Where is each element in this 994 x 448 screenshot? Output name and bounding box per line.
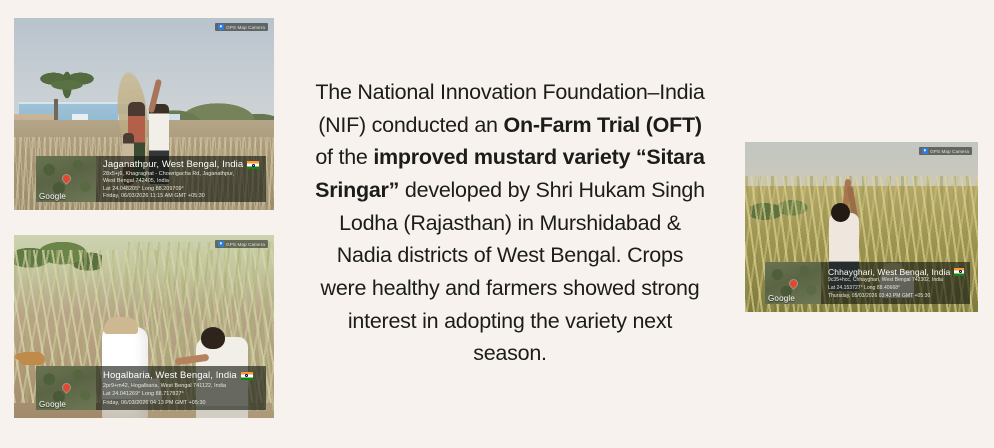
- photo-chhayghari: GPS Map Camera Google Chhayghari, West B…: [745, 142, 978, 312]
- body-paragraph: The National Innovation Foundation–India…: [312, 76, 708, 370]
- google-watermark: Google: [39, 192, 66, 201]
- map-marker-icon: [61, 383, 71, 393]
- location-title: Jaganathpur, West Bengal, India: [103, 160, 260, 170]
- location-name: Chhayghari, West Bengal, India: [828, 267, 950, 278]
- copy-segment-1: On-Farm Trial (OFT): [503, 113, 701, 137]
- gps-map-camera-badge: GPS Map Camera: [215, 240, 268, 248]
- timestamp-line: Thursday, 05/03/2026 03:43 PM GMT +05:30: [828, 293, 964, 301]
- map-thumbnail: Google: [36, 156, 96, 202]
- gps-badge-label: GPS Map Camera: [226, 242, 265, 247]
- gps-text-block: Hogalbaria, West Bengal, India 2pr9+m42,…: [96, 366, 266, 410]
- india-flag-icon: [247, 161, 259, 169]
- officer-head: [201, 327, 225, 349]
- slide-canvas: GPS Map Camera Google Jaganathpur, West …: [0, 0, 994, 448]
- copy-segment-4: developed by Shri Hukam Singh Lodha (Raj…: [321, 178, 705, 365]
- location-title: Chhayghari, West Bengal, India: [828, 267, 964, 278]
- photo-jaganathpur: GPS Map Camera Google Jaganathpur, West …: [14, 18, 274, 210]
- gps-text-block: Jaganathpur, West Bengal, India 28x5+j6,…: [96, 156, 266, 202]
- map-marker-icon: [61, 174, 71, 184]
- coordinates-line: Lat 24.153727° Long 88.40668°: [828, 285, 964, 293]
- location-name: Jaganathpur, West Bengal, India: [103, 160, 243, 170]
- location-name: Hogalbaria, West Bengal, India: [103, 370, 237, 382]
- google-watermark: Google: [768, 294, 795, 303]
- palm-tree-canopy: [40, 64, 94, 106]
- map-thumbnail: Google: [765, 262, 821, 304]
- coordinates-line: Lat 24.041269° Long 88.717827°: [103, 390, 260, 398]
- gps-overlay: Google Jaganathpur, West Bengal, India 2…: [36, 156, 266, 202]
- india-flag-icon: [241, 372, 253, 380]
- gps-pin-icon: [218, 241, 224, 247]
- copy-segment-2: of the: [315, 145, 373, 169]
- coordinates-line: Lat 24.048205° Long 88.209709°: [103, 185, 260, 192]
- google-watermark: Google: [39, 400, 66, 409]
- gps-overlay: Google Hogalbaria, West Bengal, India 2p…: [36, 366, 266, 410]
- timestamp-line: Friday, 06/03/2026 11:15 AM GMT +05:30: [103, 192, 260, 199]
- dog: [19, 352, 45, 365]
- gps-map-camera-badge: GPS Map Camera: [215, 23, 268, 31]
- address-line-1: 2pr9+m42, Hogalbaria, West Bengal 741122…: [103, 382, 260, 390]
- map-thumbnail: Google: [36, 366, 96, 410]
- address-line-1: 9c35+hcc, Chhayghari, West Bengal 742302…: [828, 277, 964, 285]
- gps-text-block: Chhayghari, West Bengal, India 9c35+hcc,…: [821, 262, 970, 304]
- gps-pin-icon: [922, 148, 928, 154]
- location-title: Hogalbaria, West Bengal, India: [103, 370, 260, 382]
- farmer-cap: [104, 317, 138, 334]
- gps-overlay: Google Chhayghari, West Bengal, India 9c…: [765, 262, 970, 304]
- gps-map-camera-badge: GPS Map Camera: [919, 147, 972, 155]
- photo-hogalbaria: GPS Map Camera Google Hogalbaria, West B…: [14, 235, 274, 418]
- address-line-1: 28x5+j6, Khagraghat - Chowrigacha Rd, Ja…: [103, 170, 260, 177]
- gps-pin-icon: [218, 24, 224, 30]
- timestamp-line: Friday, 06/03/2026 04:13 PM GMT +05:30: [103, 399, 260, 407]
- address-line-2: West Bengal 742405, India: [103, 177, 260, 184]
- map-marker-icon: [788, 278, 798, 288]
- gps-badge-label: GPS Map Camera: [930, 149, 969, 154]
- india-flag-icon: [954, 268, 964, 276]
- gps-badge-label: GPS Map Camera: [226, 25, 265, 30]
